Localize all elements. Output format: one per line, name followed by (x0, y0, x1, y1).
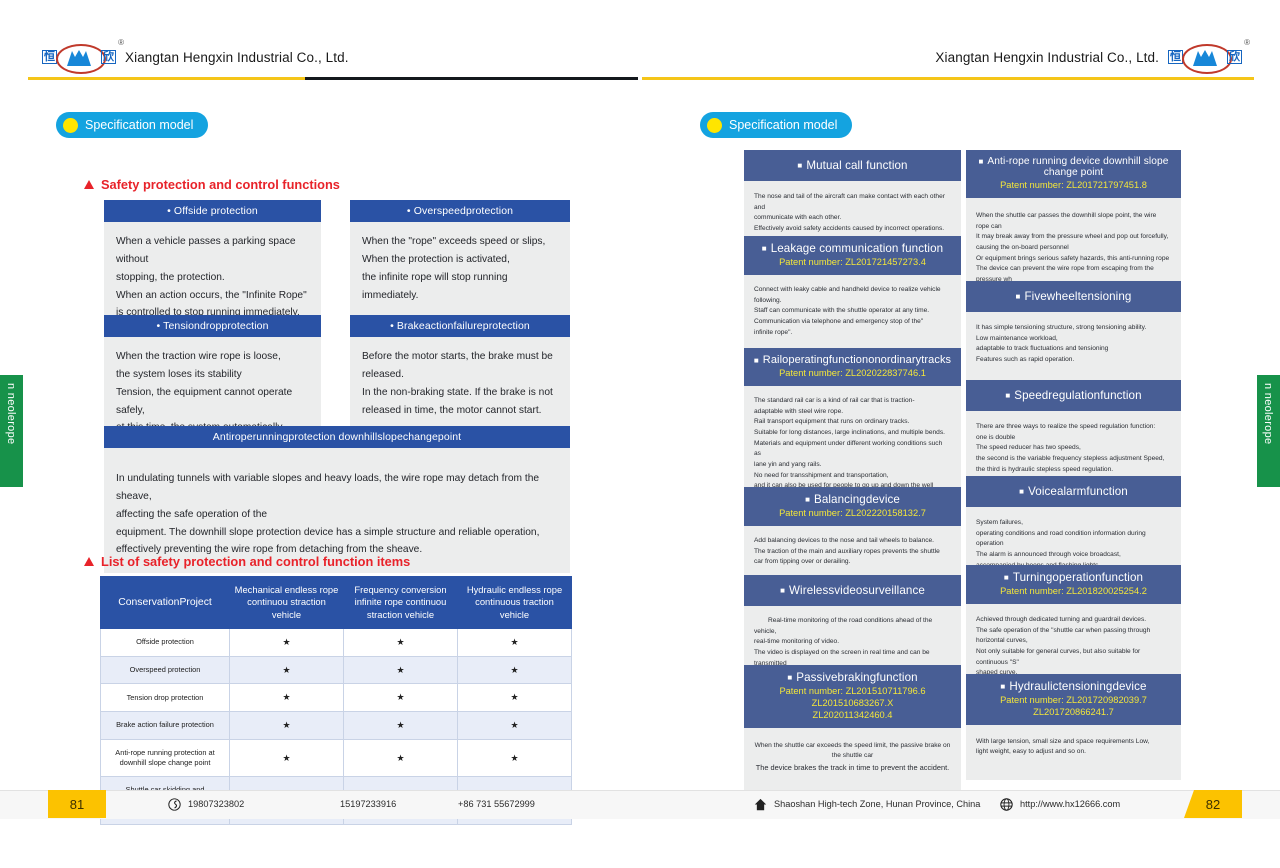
panel-line: communicate with each other. (754, 213, 951, 224)
panel-line: When the shuttle car exceeds the speed l… (752, 741, 953, 762)
square-bullet-icon: ■ (805, 495, 810, 504)
side-tab-left: n neolerope (0, 375, 23, 487)
panel-header: ■Speedregulationfunction (966, 380, 1181, 411)
registered-mark-icon-2: ® (1244, 38, 1250, 47)
panel-line: Staff can communicate with the shuttle o… (754, 306, 951, 317)
panel-header: ■Anti-rope running device downhill slope… (966, 150, 1181, 198)
panel-body: When the shuttle car exceeds the speed l… (744, 728, 961, 794)
registered-mark-icon: ® (118, 38, 124, 47)
panel-line: following. (754, 296, 951, 307)
square-bullet-icon: ■ (1000, 682, 1005, 691)
column-header-hydraulic: Hydraulic endless rope continuous tracti… (458, 577, 572, 629)
card-offside-protection: • Offside protection When a vehicle pass… (104, 200, 321, 333)
panel-line: It may break away from the pressure whee… (976, 232, 1171, 243)
row-label: Brake action failure protection (101, 712, 230, 740)
panel-balancing-device: ■Balancingdevice Patent number: ZL202220… (744, 487, 961, 587)
logo-char-right: 欣 (101, 50, 116, 64)
panel-header: ■Wirelessvideosurveillance (744, 575, 961, 606)
card-body: When the "rope" exceeds speed or slips, … (350, 222, 570, 329)
triangle-bullet-icon-2 (84, 557, 94, 566)
triangle-bullet-icon (84, 180, 94, 189)
panel-header: ■Voicealarmfunction (966, 476, 1181, 507)
pill-dot-icon (63, 118, 78, 133)
panel-line: The alarm is announced through voice bro… (976, 550, 1171, 561)
footer-phone-2: 15197233916 (340, 790, 396, 818)
section-heading-table-label: List of safety protection and control fu… (101, 554, 410, 569)
column-header-frequency: Frequency conversion infinite rope conti… (344, 577, 458, 629)
panel-line: The speed reducer has two speeds, (976, 443, 1171, 454)
column-header-mechanical: Mechanical endless rope continuou stract… (230, 577, 344, 629)
card-line: When the traction wire rope is loose, (116, 348, 309, 366)
panel-hydraulic-tensioning-device: ■Hydraulictensioningdevice Patent number… (966, 674, 1181, 780)
safety-function-table: ConservationProject Mechanical endless r… (100, 576, 572, 825)
logo-char-left-2: 恒 (1168, 50, 1183, 64)
square-bullet-icon: ■ (754, 356, 759, 365)
globe-icon (1000, 798, 1013, 811)
panel-line: real-time monitoring of video. (754, 637, 951, 648)
header-brand-right: Xiangtan Hengxin Industrial Co., Ltd. 恒 … (935, 42, 1242, 72)
row-value: ★ (230, 656, 344, 684)
panel-line: Real-time monitoring of the road conditi… (754, 616, 951, 637)
footer-website-label[interactable]: http://www.hx12666.com (1020, 799, 1120, 809)
logo-char-right-2: 欣 (1227, 50, 1242, 64)
panel-line: The device brakes the track in time to p… (752, 762, 953, 774)
panel-line: Connect with leaky cable and handheld de… (754, 285, 951, 296)
page-number-right: 82 (1184, 790, 1242, 818)
panel-patent-number: Patent number: ZL201721797451.8 (971, 180, 1176, 192)
panel-title: ■Passivebrakingfunction (749, 671, 956, 684)
section-heading-table: List of safety protection and control fu… (84, 554, 410, 569)
panel-line: With large tension, small size and space… (976, 737, 1171, 748)
panel-header: ■Passivebrakingfunction Patent number: Z… (744, 665, 961, 728)
square-bullet-icon: ■ (1019, 487, 1024, 496)
panel-body: It has simple tensioning structure, stro… (966, 312, 1181, 386)
footer-phone-1-label: 19807323802 (188, 799, 244, 809)
card-title: Antiroperunningprotection downhillslopec… (104, 426, 570, 448)
panel-title: ■Balancingdevice (749, 493, 956, 506)
card-overspeed-protection: • Overspeedprotection When the "rope" ex… (350, 200, 570, 329)
panel-line: infinite rope". (754, 328, 951, 339)
company-logo-icon: 恒 欣 ® (42, 42, 116, 72)
panel-passive-braking-function: ■Passivebrakingfunction Patent number: Z… (744, 665, 961, 794)
panel-line: It has simple tensioning structure, stro… (976, 323, 1171, 334)
footer-phone-3: +86 731 55672999 (458, 790, 535, 818)
row-value: ★ (344, 712, 458, 740)
square-bullet-icon: ■ (762, 244, 767, 253)
catalog-spread: 恒 欣 ® Xiangtan Hengxin Industrial Co., L… (0, 0, 1280, 868)
row-value: ★ (344, 656, 458, 684)
row-value: ★ (344, 629, 458, 657)
row-value: ★ (458, 684, 572, 712)
card-antirope-running-protection: Antiroperunningprotection downhillslopec… (104, 426, 570, 573)
phone-icon (168, 798, 181, 811)
footer-phone-3-label: +86 731 55672999 (458, 799, 535, 809)
row-value: ★ (230, 739, 344, 777)
panel-patent-number: Patent number: ZL201820025254.2 (971, 586, 1176, 598)
panel-line: The nose and tail of the aircraft can ma… (754, 192, 951, 213)
page-header: 恒 欣 ® Xiangtan Hengxin Industrial Co., L… (0, 0, 1280, 88)
panel-header: ■Mutual call function (744, 150, 961, 181)
panel-patent-number: Patent number: ZL201720982039.7 ZL201720… (971, 695, 1176, 719)
row-value: ★ (458, 629, 572, 657)
panel-patent-number: Patent number: ZL202022837746.1 (749, 368, 956, 380)
panel-title: ■Wirelessvideosurveillance (749, 584, 956, 597)
panel-patent-number: Patent number: ZL201510711796.6 ZL201510… (749, 686, 956, 722)
footer-phone-1: 19807323802 (168, 790, 244, 818)
square-bullet-icon: ■ (780, 586, 785, 595)
company-logo-icon-right: 恒 欣 ® (1168, 42, 1242, 72)
panel-line: Effectively avoid safety accidents cause… (754, 224, 951, 235)
card-title: • Brakeactionfailureprotection (350, 315, 570, 337)
card-line: the infinite rope will stop running imme… (362, 269, 558, 305)
panel-patent-number: Patent number: ZL202220158132.7 (749, 508, 956, 520)
panel-line: There are three ways to realize the spee… (976, 422, 1171, 433)
card-line: released in time, the motor cannot start… (362, 402, 558, 420)
panel-header: ■Turningoperationfunction Patent number:… (966, 565, 1181, 604)
page-number-left: 81 (48, 790, 106, 818)
card-line: Tension, the equipment cannot operate sa… (116, 384, 309, 420)
panel-line: Add balancing devices to the nose and ta… (754, 536, 951, 547)
panel-title: ■Hydraulictensioningdevice (971, 680, 1176, 693)
panel-title: ■Railoperatingfunctiononordinarytracks (749, 354, 956, 366)
square-bullet-icon: ■ (1004, 573, 1009, 582)
header-rule-yellow-right (642, 77, 1254, 80)
panel-line: adaptable to track fluctuations and tens… (976, 344, 1171, 355)
square-bullet-icon: ■ (797, 161, 802, 170)
card-line: In undulating tunnels with variable slop… (116, 470, 558, 506)
company-name-right: Xiangtan Hengxin Industrial Co., Ltd. (935, 50, 1159, 65)
panel-line: Achieved through dedicated turning and g… (976, 615, 1171, 626)
panel-header: ■Leakage communication function Patent n… (744, 236, 961, 275)
panel-patent-number: Patent number: ZL201721457273.4 (749, 257, 956, 269)
card-title: • Tensiondropprotection (104, 315, 321, 337)
card-line: When the "rope" exceeds speed or slips, (362, 233, 558, 251)
panel-header: ■Balancingdevice Patent number: ZL202220… (744, 487, 961, 526)
panel-line: Suitable for long distances, large incli… (754, 428, 951, 439)
panel-line: one is double (976, 433, 1171, 444)
home-icon (754, 798, 767, 811)
section-heading-safety-label: Safety protection and control functions (101, 177, 340, 192)
panel-title: ■Speedregulationfunction (971, 389, 1176, 402)
card-line: When an action occurs, the "Infinite Rop… (116, 287, 309, 305)
panel-title: ■Voicealarmfunction (971, 485, 1176, 498)
card-line: Before the motor starts, the brake must … (362, 348, 558, 384)
pill-dot-icon-2 (707, 118, 722, 133)
square-bullet-icon: ■ (1016, 292, 1021, 301)
panel-line: car from tipping over or derailing. (754, 557, 951, 568)
header-rule-dark-left (305, 77, 638, 80)
row-value: ★ (458, 739, 572, 777)
table-row: Tension drop protection ★ ★ ★ (101, 684, 572, 712)
panel-line: The standard rail car is a kind of rail … (754, 396, 951, 407)
row-label: Tension drop protection (101, 684, 230, 712)
footer-address: Shaoshan High-tech Zone, Hunan Province,… (754, 790, 980, 818)
card-line: stopping, the protection. (116, 269, 309, 287)
square-bullet-icon: ■ (978, 157, 983, 166)
table-header-row: ConservationProject Mechanical endless r… (101, 577, 572, 629)
logo-mountain-icon (66, 49, 92, 66)
card-line: affecting the safe operation of the (116, 506, 558, 524)
panel-line: The traction of the main and auxiliary r… (754, 547, 951, 558)
panel-line: Communication via telephone and emergenc… (754, 317, 951, 328)
panel-line: Materials and equipment under different … (754, 439, 951, 460)
card-line: equipment. The downhill slope protection… (116, 524, 558, 542)
row-label: Overspeed protection (101, 656, 230, 684)
panel-line: Rail transport equipment that runs on or… (754, 417, 951, 428)
panel-line: the second is the variable frequency ste… (976, 454, 1171, 465)
panel-header: ■Hydraulictensioningdevice Patent number… (966, 674, 1181, 725)
panel-header: ■Railoperatingfunctiononordinarytracks P… (744, 348, 961, 386)
panel-title: ■Anti-rope running device downhill slope… (971, 156, 1176, 178)
logo-char-left: 恒 (42, 50, 57, 64)
card-line: When a vehicle passes a parking space wi… (116, 233, 309, 269)
row-label: Anti-rope running protection at downhill… (101, 739, 230, 777)
panel-line: adaptable with steel wire rope. (754, 407, 951, 418)
row-value: ★ (344, 684, 458, 712)
table-row: Brake action failure protection ★ ★ ★ (101, 712, 572, 740)
panel-header: ■Fivewheeltensioning (966, 281, 1181, 312)
column-header-project: ConservationProject (101, 577, 230, 629)
spec-model-label-left: Specification model (85, 118, 193, 132)
panel-line: Features such as rapid operation. (976, 355, 1171, 366)
side-tab-right-label: n neolerope (1262, 383, 1274, 444)
panel-line: When the shuttle car passes the downhill… (976, 211, 1171, 232)
footer-phone-2-label: 15197233916 (340, 799, 396, 809)
panel-line: The safe operation of the "shuttle car w… (976, 626, 1171, 647)
row-value: ★ (230, 684, 344, 712)
card-title: • Offside protection (104, 200, 321, 222)
spec-model-pill-right: Specification model (700, 112, 852, 138)
panel-line: causing the on-board personnel (976, 243, 1171, 254)
row-value: ★ (458, 656, 572, 684)
panel-line: Low maintenance workload, (976, 334, 1171, 345)
company-name-left: Xiangtan Hengxin Industrial Co., Ltd. (125, 50, 349, 65)
panel-line: Or equipment brings serious safety hazar… (976, 254, 1171, 265)
panel-line: No need for transshipment and transporta… (754, 471, 951, 482)
footer-website[interactable]: http://www.hx12666.com (1000, 790, 1120, 818)
panel-line: light weight, easy to adjust and so on. (976, 747, 1171, 758)
panel-body: With large tension, small size and space… (966, 725, 1181, 780)
panel-body: Connect with leaky cable and handheld de… (744, 275, 961, 356)
square-bullet-icon: ■ (787, 673, 792, 682)
card-line: In the non-braking state. If the brake i… (362, 384, 558, 402)
header-brand-left: 恒 欣 ® Xiangtan Hengxin Industrial Co., L… (42, 42, 349, 72)
panel-line: Not only suitable for general curves, bu… (976, 647, 1171, 668)
panel-line: System failures, (976, 518, 1171, 529)
footer-address-label: Shaoshan High-tech Zone, Hunan Province,… (774, 799, 980, 809)
table-row: Anti-rope running protection at downhill… (101, 739, 572, 777)
logo-mountain-icon-2 (1192, 49, 1218, 66)
panel-line: operating conditions and road condition … (976, 529, 1171, 550)
card-line: the system loses its stability (116, 366, 309, 384)
row-value: ★ (230, 629, 344, 657)
row-value: ★ (458, 712, 572, 740)
spec-model-pill-left: Specification model (56, 112, 208, 138)
panel-five-wheel-tensioning: ■Fivewheeltensioning It has simple tensi… (966, 281, 1181, 386)
panel-line: lane yin and yang rails. (754, 460, 951, 471)
panel-title: ■Leakage communication function (749, 242, 956, 255)
square-bullet-icon: ■ (1005, 391, 1010, 400)
table-row: Overspeed protection ★ ★ ★ (101, 656, 572, 684)
table-row: Offside protection ★ ★ ★ (101, 629, 572, 657)
panel-leakage-communication-function: ■Leakage communication function Patent n… (744, 236, 961, 356)
panel-line: the third is hydraulic stepless speed re… (976, 465, 1171, 476)
spec-model-label-right: Specification model (729, 118, 837, 132)
section-heading-safety: Safety protection and control functions (84, 177, 340, 192)
side-tab-right: n neolerope (1257, 375, 1280, 487)
panel-title: ■Turningoperationfunction (971, 571, 1176, 584)
card-line: When the protection is activated, (362, 251, 558, 269)
panel-title: ■Fivewheeltensioning (971, 290, 1176, 303)
row-label: Offside protection (101, 629, 230, 657)
row-value: ★ (344, 739, 458, 777)
panel-title: ■Mutual call function (749, 159, 956, 172)
card-title: • Overspeedprotection (350, 200, 570, 222)
side-tab-left-label: n neolerope (5, 383, 17, 444)
row-value: ★ (230, 712, 344, 740)
